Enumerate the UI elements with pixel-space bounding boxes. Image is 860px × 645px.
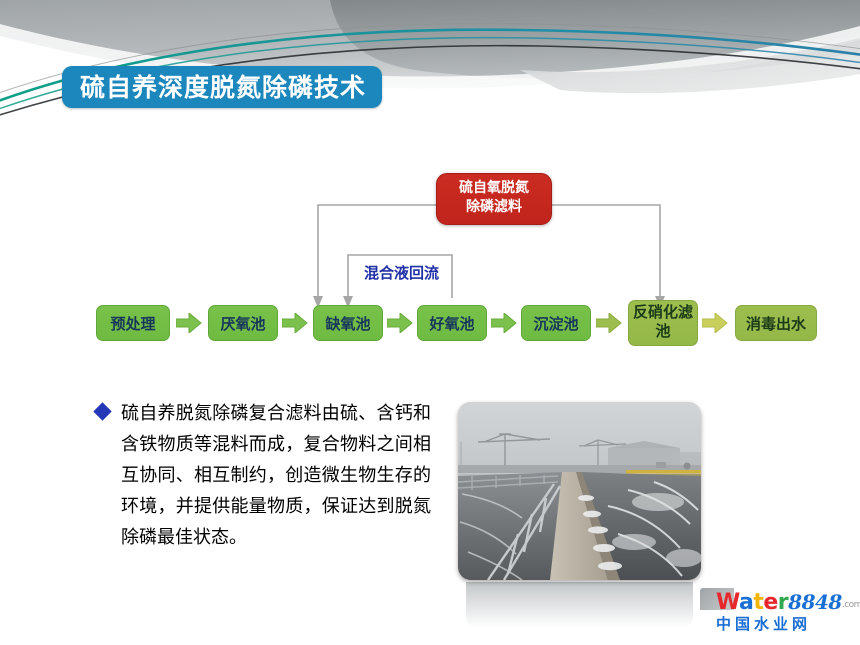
flow-arrow-5 xyxy=(596,313,622,333)
flow-arrow-2 xyxy=(282,313,308,333)
diamond-bullet-icon xyxy=(93,402,111,420)
flow-box-anoxic-tank[interactable]: 缺氧池 xyxy=(313,305,383,341)
page-title-text: 硫自养深度脱氮除磷技术 xyxy=(80,75,366,100)
flow-box-disinfection-effluent-label: 消毒出水 xyxy=(746,313,806,334)
flow-box-denitrification-filter-label: 反硝化滤池 xyxy=(629,304,697,342)
wastewater-plant-photo xyxy=(458,402,701,580)
logo-letter-e: e xyxy=(763,590,777,615)
flow-box-pretreatment-label: 预处理 xyxy=(110,313,155,334)
flow-box-anoxic-tank-label: 缺氧池 xyxy=(325,313,370,334)
flow-box-sedimentation-tank[interactable]: 沉淀池 xyxy=(521,305,591,341)
logo-number: 8848 xyxy=(788,590,842,614)
flow-box-sulfur-media-line1: 硫自氧脱氮 xyxy=(459,180,529,199)
flow-box-anaerobic-tank-label: 厌氧池 xyxy=(220,313,265,334)
flow-box-disinfection-effluent[interactable]: 消毒出水 xyxy=(735,305,817,341)
flow-arrow-4 xyxy=(491,313,517,333)
site-logo[interactable]: Water8848.com 中国水业网 xyxy=(716,592,860,632)
flow-box-anaerobic-tank[interactable]: 厌氧池 xyxy=(208,305,278,341)
logo-letter-t: t xyxy=(753,590,763,615)
bullet-paragraph-text: 硫自养脱氮除磷复合滤料由硫、含钙和含铁物质等混料而成，复合物料之间相互协同、相互… xyxy=(121,398,431,553)
flow-box-aerobic-tank[interactable]: 好氧池 xyxy=(417,305,487,341)
bullet-paragraph: 硫自养脱氮除磷复合滤料由硫、含钙和含铁物质等混料而成，复合物料之间相互协同、相互… xyxy=(96,398,448,553)
process-flow-diagram: 混合液回流 硫自氧脱氮 除磷滤料 预处理 厌氧池 缺氧池 好氧池 沉淀池 反硝化… xyxy=(0,150,860,360)
flow-arrow-6 xyxy=(702,313,728,333)
flow-box-sedimentation-tank-label: 沉淀池 xyxy=(533,313,578,334)
photo-reflection xyxy=(466,582,693,628)
flow-box-aerobic-tank-label: 好氧池 xyxy=(429,313,474,334)
flow-arrow-1 xyxy=(176,313,202,333)
logo-letter-a: a xyxy=(739,590,753,615)
logo-chinese-name: 中国水业网 xyxy=(716,617,860,632)
logo-domain-suffix: .com xyxy=(842,600,860,610)
flow-box-sulfur-media-line2: 除磷滤料 xyxy=(466,199,522,218)
flow-box-pretreatment[interactable]: 预处理 xyxy=(96,305,170,341)
flow-arrow-3 xyxy=(387,313,413,333)
flow-box-sulfur-media[interactable]: 硫自氧脱氮 除磷滤料 xyxy=(436,173,552,225)
logo-wordmark: Water8848.com xyxy=(716,592,860,614)
logo-letter-r: r xyxy=(778,590,788,615)
recycle-flow-label: 混合液回流 xyxy=(364,262,439,283)
slide-canvas: 硫自养深度脱氮除磷技术 混合液回流 硫自氧脱氮 除 xyxy=(0,0,860,645)
page-title: 硫自养深度脱氮除磷技术 xyxy=(62,66,382,108)
logo-letter-w: W xyxy=(716,590,739,615)
flow-box-denitrification-filter[interactable]: 反硝化滤池 xyxy=(628,300,698,346)
